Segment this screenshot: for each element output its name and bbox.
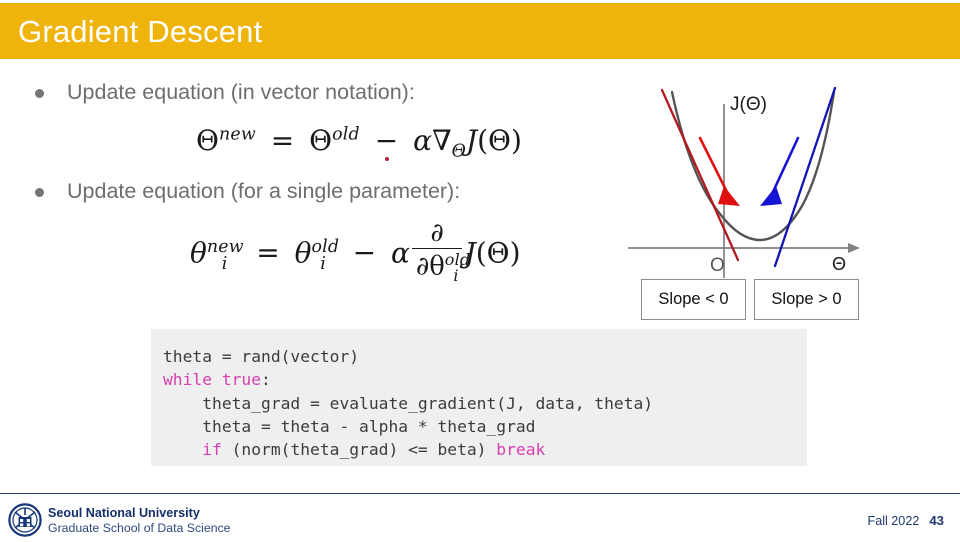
- formula-den-sub: i: [453, 266, 458, 285]
- formula-den-base: ∂θ: [416, 252, 445, 282]
- footer-divider: [0, 493, 960, 494]
- code-keyword: true: [222, 370, 261, 389]
- formula-equals: =: [250, 236, 285, 269]
- formula-theta-i-new-sub: i: [222, 254, 228, 274]
- code-text: [212, 370, 222, 389]
- formula-nabla-icon: ∇: [432, 124, 452, 157]
- code-text: theta_grad = evaluate_gradient(J, data, …: [163, 394, 653, 413]
- left-tangent-line: [662, 90, 738, 260]
- bullet-label: Update equation (in vector notation):: [67, 80, 415, 106]
- formula-theta-new-sup: new: [219, 125, 256, 145]
- formula-cost-argument: (Θ): [477, 124, 522, 157]
- formula-minus: −: [347, 236, 382, 269]
- pseudocode-text: theta = rand(vector) while true: theta_g…: [163, 346, 807, 462]
- code-text: theta = rand(vector): [163, 347, 359, 366]
- code-text: :: [261, 370, 271, 389]
- formula-alpha: α: [391, 236, 410, 269]
- bullet-item-vector-notation: Update equation (in vector notation):: [35, 80, 415, 106]
- footer-term: Fall 2022: [868, 514, 920, 528]
- x-axis-label: Θ: [832, 254, 846, 274]
- pseudocode-block: theta = rand(vector) while true: theta_g…: [151, 329, 807, 466]
- formula-alpha: α: [413, 124, 432, 157]
- formula-theta-i-old-sub: i: [320, 254, 326, 274]
- code-keyword: while: [163, 370, 212, 389]
- x-axis-arrowhead-icon: [848, 243, 860, 253]
- slope-negative-box: Slope < 0: [641, 279, 746, 320]
- code-text: [163, 440, 202, 459]
- snu-crest-logo-icon: [8, 503, 42, 537]
- bullet-item-single-parameter: Update equation (for a single parameter)…: [35, 179, 460, 205]
- code-text: theta = theta - alpha * theta_grad: [163, 417, 535, 436]
- right-tangent-line: [775, 88, 835, 266]
- formula-cost-symbol: J: [466, 124, 477, 157]
- right-descent-arrow-shaft: [772, 138, 798, 194]
- right-descent-arrowhead-icon: [760, 186, 782, 206]
- slope-positive-label: Slope > 0: [771, 290, 841, 309]
- footer-school-name: Graduate School of Data Science: [48, 521, 231, 536]
- formula-nabla-subscript: Θ: [452, 142, 466, 162]
- code-text: (norm(theta_grad) <= beta): [222, 440, 496, 459]
- formula-vector-update: Θnew = Θold − α∇ΘJ(Θ): [196, 124, 522, 162]
- left-descent-arrowhead-icon: [718, 186, 740, 206]
- slope-negative-label: Slope < 0: [658, 290, 728, 309]
- bullet-label: Update equation (for a single parameter)…: [67, 179, 460, 205]
- formula-theta-old-base: Θ: [309, 124, 332, 157]
- formula-equals: =: [265, 124, 300, 157]
- formula-minus-with-annotation-dot: −: [369, 124, 404, 157]
- pseudocode-content: theta = rand(vector) while true: theta_g…: [163, 347, 653, 459]
- formula-scalar-update: θnewi = θoldi − α∂∂θoldiJ(Θ): [190, 222, 521, 288]
- formula-theta-old-sup: old: [332, 125, 360, 145]
- code-keyword: if: [202, 440, 222, 459]
- formula-theta-i-new-base: θ: [190, 236, 207, 269]
- formula-theta-i-old-base: θ: [295, 236, 312, 269]
- formula-cost-argument: (Θ): [476, 236, 521, 269]
- formula-fraction-numerator: ∂: [412, 220, 462, 249]
- footer-meta: Fall 2022 43: [868, 513, 944, 528]
- slope-positive-box: Slope > 0: [754, 279, 859, 320]
- formula-theta-new-base: Θ: [196, 124, 219, 157]
- bullet-dot-icon: [35, 89, 44, 98]
- origin-label: O: [710, 255, 725, 276]
- formula-theta-i-old-sup: old: [311, 237, 339, 257]
- formula-fraction-denominator: ∂θoldi: [412, 249, 462, 286]
- formula-partial-derivative-fraction: ∂∂θoldi: [412, 220, 462, 286]
- footer-slide-number: 43: [929, 513, 944, 528]
- code-keyword: break: [496, 440, 545, 459]
- footer-university-name: Seoul National University: [48, 506, 231, 521]
- page-title: Gradient Descent: [0, 16, 262, 47]
- slide-header-bar: Gradient Descent: [0, 3, 960, 59]
- y-axis-label: J(Θ): [730, 94, 767, 115]
- footer-brand: Seoul National University Graduate Schoo…: [48, 506, 231, 536]
- bullet-dot-icon: [35, 188, 44, 197]
